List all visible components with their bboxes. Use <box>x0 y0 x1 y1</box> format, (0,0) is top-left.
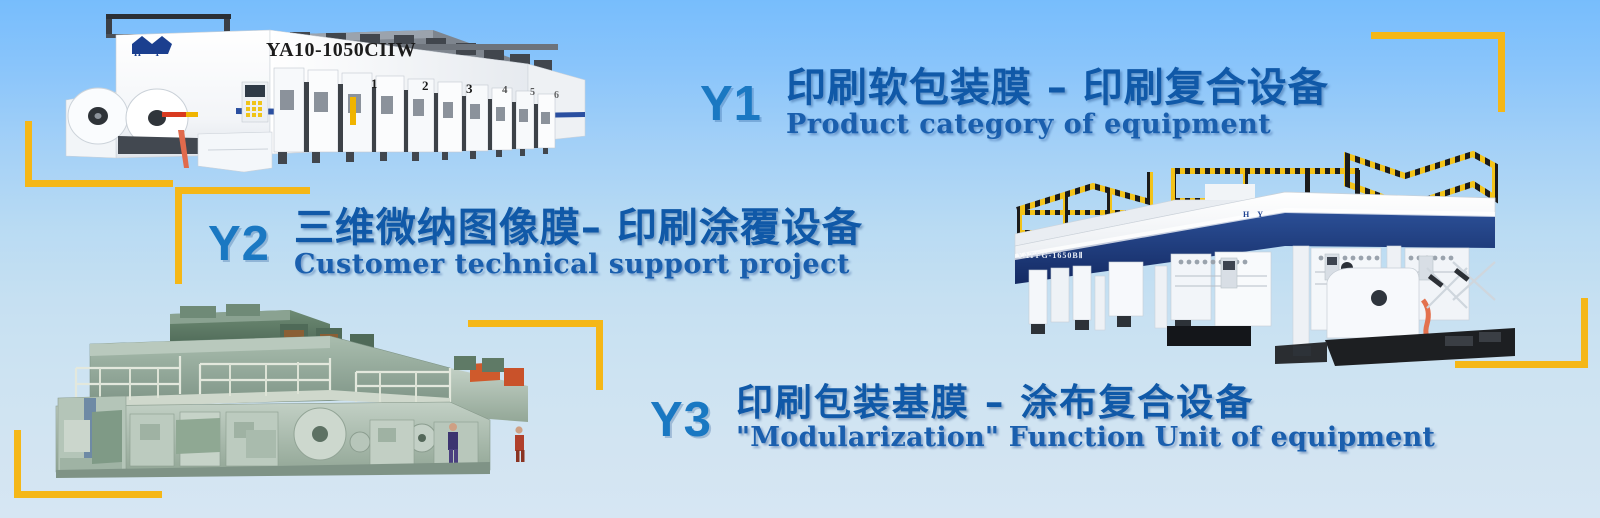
promo-banner: HY YA10-1050CIIW 1 2 3 4 5 6 <box>0 0 1600 518</box>
machine-1-unit-number-5: 5 <box>530 87 535 98</box>
category-title-en-y3: "Modularization" Function Unit of equipm… <box>736 423 1435 453</box>
bracket-center-lower <box>468 320 603 390</box>
machine-1-model-label: YA10-1050CIIW <box>266 39 416 62</box>
machine-image-laminator: YATFG-1650BⅡ HY <box>975 150 1520 382</box>
category-block-y1: Y1 印刷软包装膜 – 印刷复合设备 Product category of e… <box>700 66 1329 139</box>
machine-1-unit-number-3: 3 <box>466 81 473 97</box>
category-title-cn-y3: 印刷包装基膜 – 涂布复合设备 <box>736 382 1435 423</box>
machine-1-unit-number-1: 1 <box>371 76 378 92</box>
category-block-y3: Y3 印刷包装基膜 – 涂布复合设备 "Modularization" Func… <box>650 382 1435 453</box>
machine-2-model-label: YATFG-1650BⅡ <box>1017 251 1084 260</box>
category-title-en-y1: Product category of equipment <box>786 110 1329 140</box>
machine-1-unit-number-4: 4 <box>502 84 508 96</box>
category-title-en-y2: Customer technical support project <box>294 250 863 280</box>
bracket-bottom-left <box>14 430 162 498</box>
machine-2-brand-logo: HY <box>1243 210 1271 219</box>
category-code-y3: Y3 <box>650 396 712 445</box>
category-title-cn-y2: 三维微纳图像膜– 印刷涂覆设备 <box>294 206 863 251</box>
category-title-cn-y1: 印刷软包装膜 – 印刷复合设备 <box>786 66 1329 111</box>
category-code-y1: Y1 <box>700 80 762 129</box>
bracket-right-lower <box>1455 298 1588 368</box>
category-block-y2: Y2 三维微纳图像膜– 印刷涂覆设备 Customer technical su… <box>208 206 863 279</box>
bracket-top-right <box>1371 32 1505 112</box>
machine-1-unit-number-2: 2 <box>422 78 429 94</box>
machine-1-brand-logo: HY <box>134 48 174 58</box>
machine-1-unit-number-6: 6 <box>554 90 559 101</box>
category-code-y2: Y2 <box>208 220 270 269</box>
bracket-left-upper <box>25 121 173 187</box>
